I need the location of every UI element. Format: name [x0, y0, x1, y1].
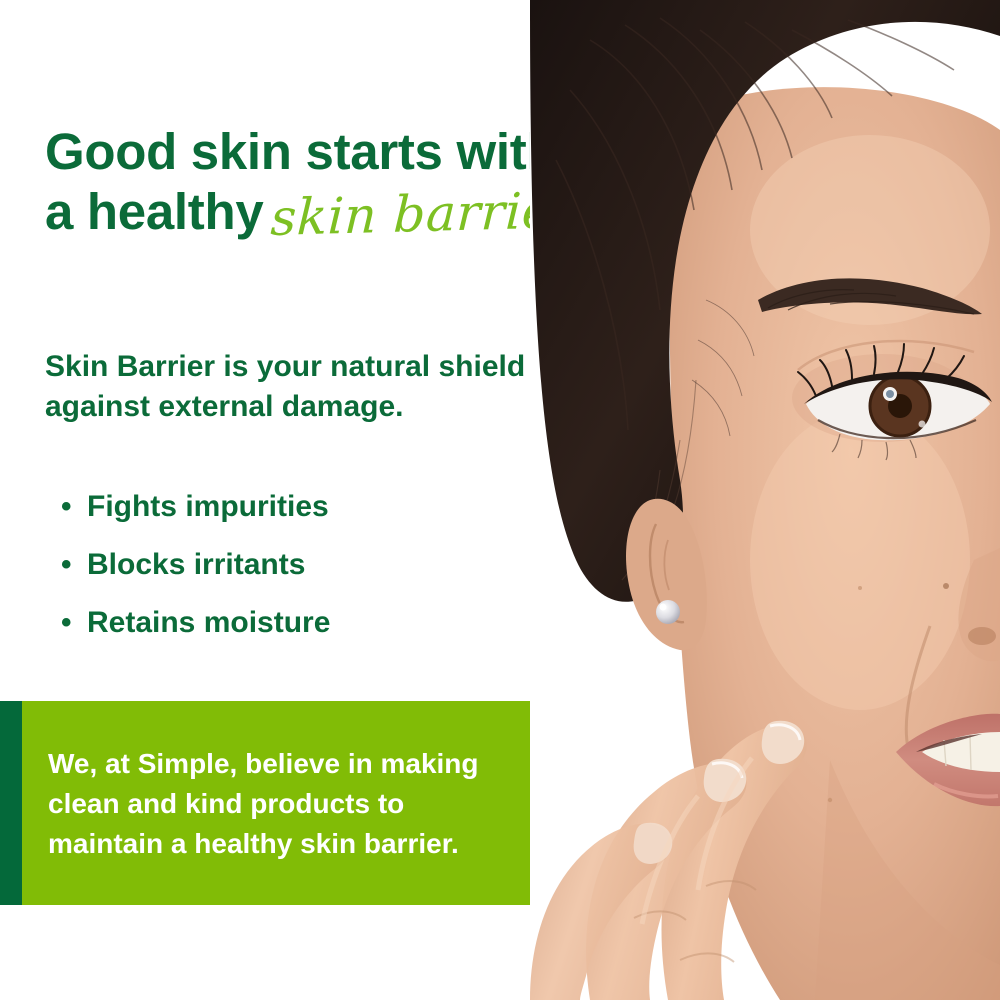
- headline-plain-text: a healthy: [45, 183, 263, 240]
- bullet-dot-icon: •: [61, 608, 72, 638]
- banner-line-2: clean and kind products to: [48, 788, 404, 819]
- bullet-dot-icon: •: [61, 550, 72, 580]
- skincare-promo-poster: We, at Simple, believe in making clean a…: [0, 0, 1000, 1000]
- headline-line-1: Good skin starts with: [45, 123, 557, 180]
- headline-line-2: a healthyskin barrier: [45, 182, 577, 244]
- banner-line-1: We, at Simple, believe in making: [48, 748, 479, 779]
- list-item: • Fights impurities: [61, 492, 330, 522]
- benefit-label: Retains moisture: [87, 606, 330, 639]
- list-item: • Blocks irritants: [61, 550, 330, 580]
- model-photo-illustration: [530, 0, 1000, 1000]
- subheading: Skin Barrier is your natural shield agai…: [45, 347, 585, 427]
- benefit-label: Fights impurities: [87, 490, 329, 523]
- benefits-list: • Fights impurities • Blocks irritants •…: [61, 492, 330, 666]
- benefit-label: Blocks irritants: [87, 548, 305, 581]
- page-title: Good skin starts with a healthyskin barr…: [45, 122, 577, 244]
- banner-accent-bar: [0, 701, 22, 905]
- banner-message: We, at Simple, believe in making clean a…: [48, 744, 608, 863]
- bullet-dot-icon: •: [61, 492, 72, 522]
- list-item: • Retains moisture: [61, 608, 330, 638]
- banner-line-3: maintain a healthy skin barrier.: [48, 828, 459, 859]
- model-photo: [530, 0, 1000, 1000]
